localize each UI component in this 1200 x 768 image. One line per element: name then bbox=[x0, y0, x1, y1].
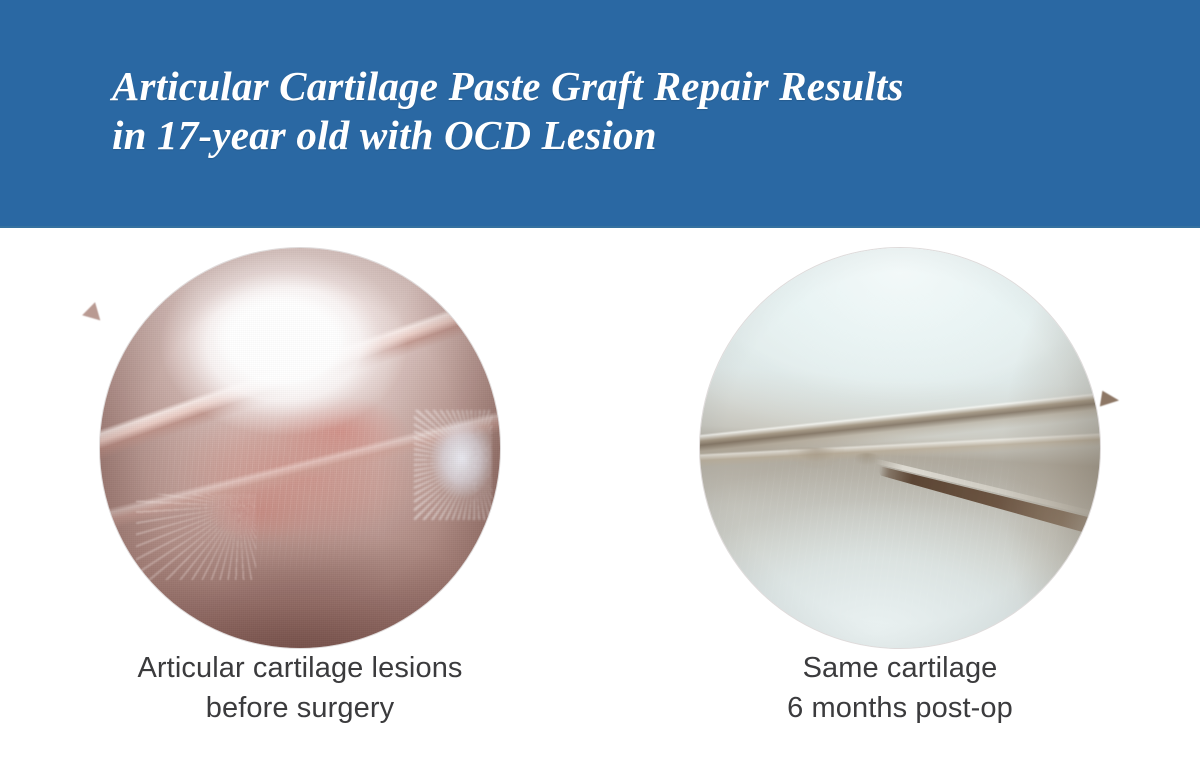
page-title-line-1: Articular Cartilage Paste Graft Repair R… bbox=[112, 62, 1092, 111]
caption-pre-op: Articular cartilage lesions before surge… bbox=[0, 648, 600, 728]
scope-wrap-post-op bbox=[694, 242, 1106, 654]
panel-pre-op: Articular cartilage lesions before surge… bbox=[0, 228, 600, 768]
caption-post-op-line-1: Same cartilage bbox=[600, 648, 1200, 688]
caption-pre-op-line-2: before surgery bbox=[0, 688, 600, 728]
panel-post-op: Same cartilage 6 months post-op bbox=[600, 228, 1200, 768]
page-title-line-2: in 17-year old with OCD Lesion bbox=[112, 111, 1092, 160]
caption-post-op-line-2: 6 months post-op bbox=[600, 688, 1200, 728]
image-comparison-area: Articular cartilage lesions before surge… bbox=[0, 228, 1200, 768]
page-title: Articular Cartilage Paste Graft Repair R… bbox=[112, 62, 1092, 160]
tissue-tag-spike-right-icon bbox=[1100, 391, 1120, 410]
infographic-page: Articular Cartilage Paste Graft Repair R… bbox=[0, 0, 1200, 768]
scope-wrap-pre-op bbox=[94, 242, 506, 654]
caption-pre-op-line-1: Articular cartilage lesions bbox=[0, 648, 600, 688]
caption-post-op: Same cartilage 6 months post-op bbox=[600, 648, 1200, 728]
scope-vignette-layer bbox=[700, 248, 1100, 648]
header-banner: Articular Cartilage Paste Graft Repair R… bbox=[0, 0, 1200, 228]
scope-vignette-layer bbox=[100, 248, 500, 648]
arthroscopic-image-pre-op bbox=[100, 248, 500, 648]
tissue-tag-spike-icon bbox=[80, 302, 101, 325]
arthroscopic-image-post-op bbox=[700, 248, 1100, 648]
